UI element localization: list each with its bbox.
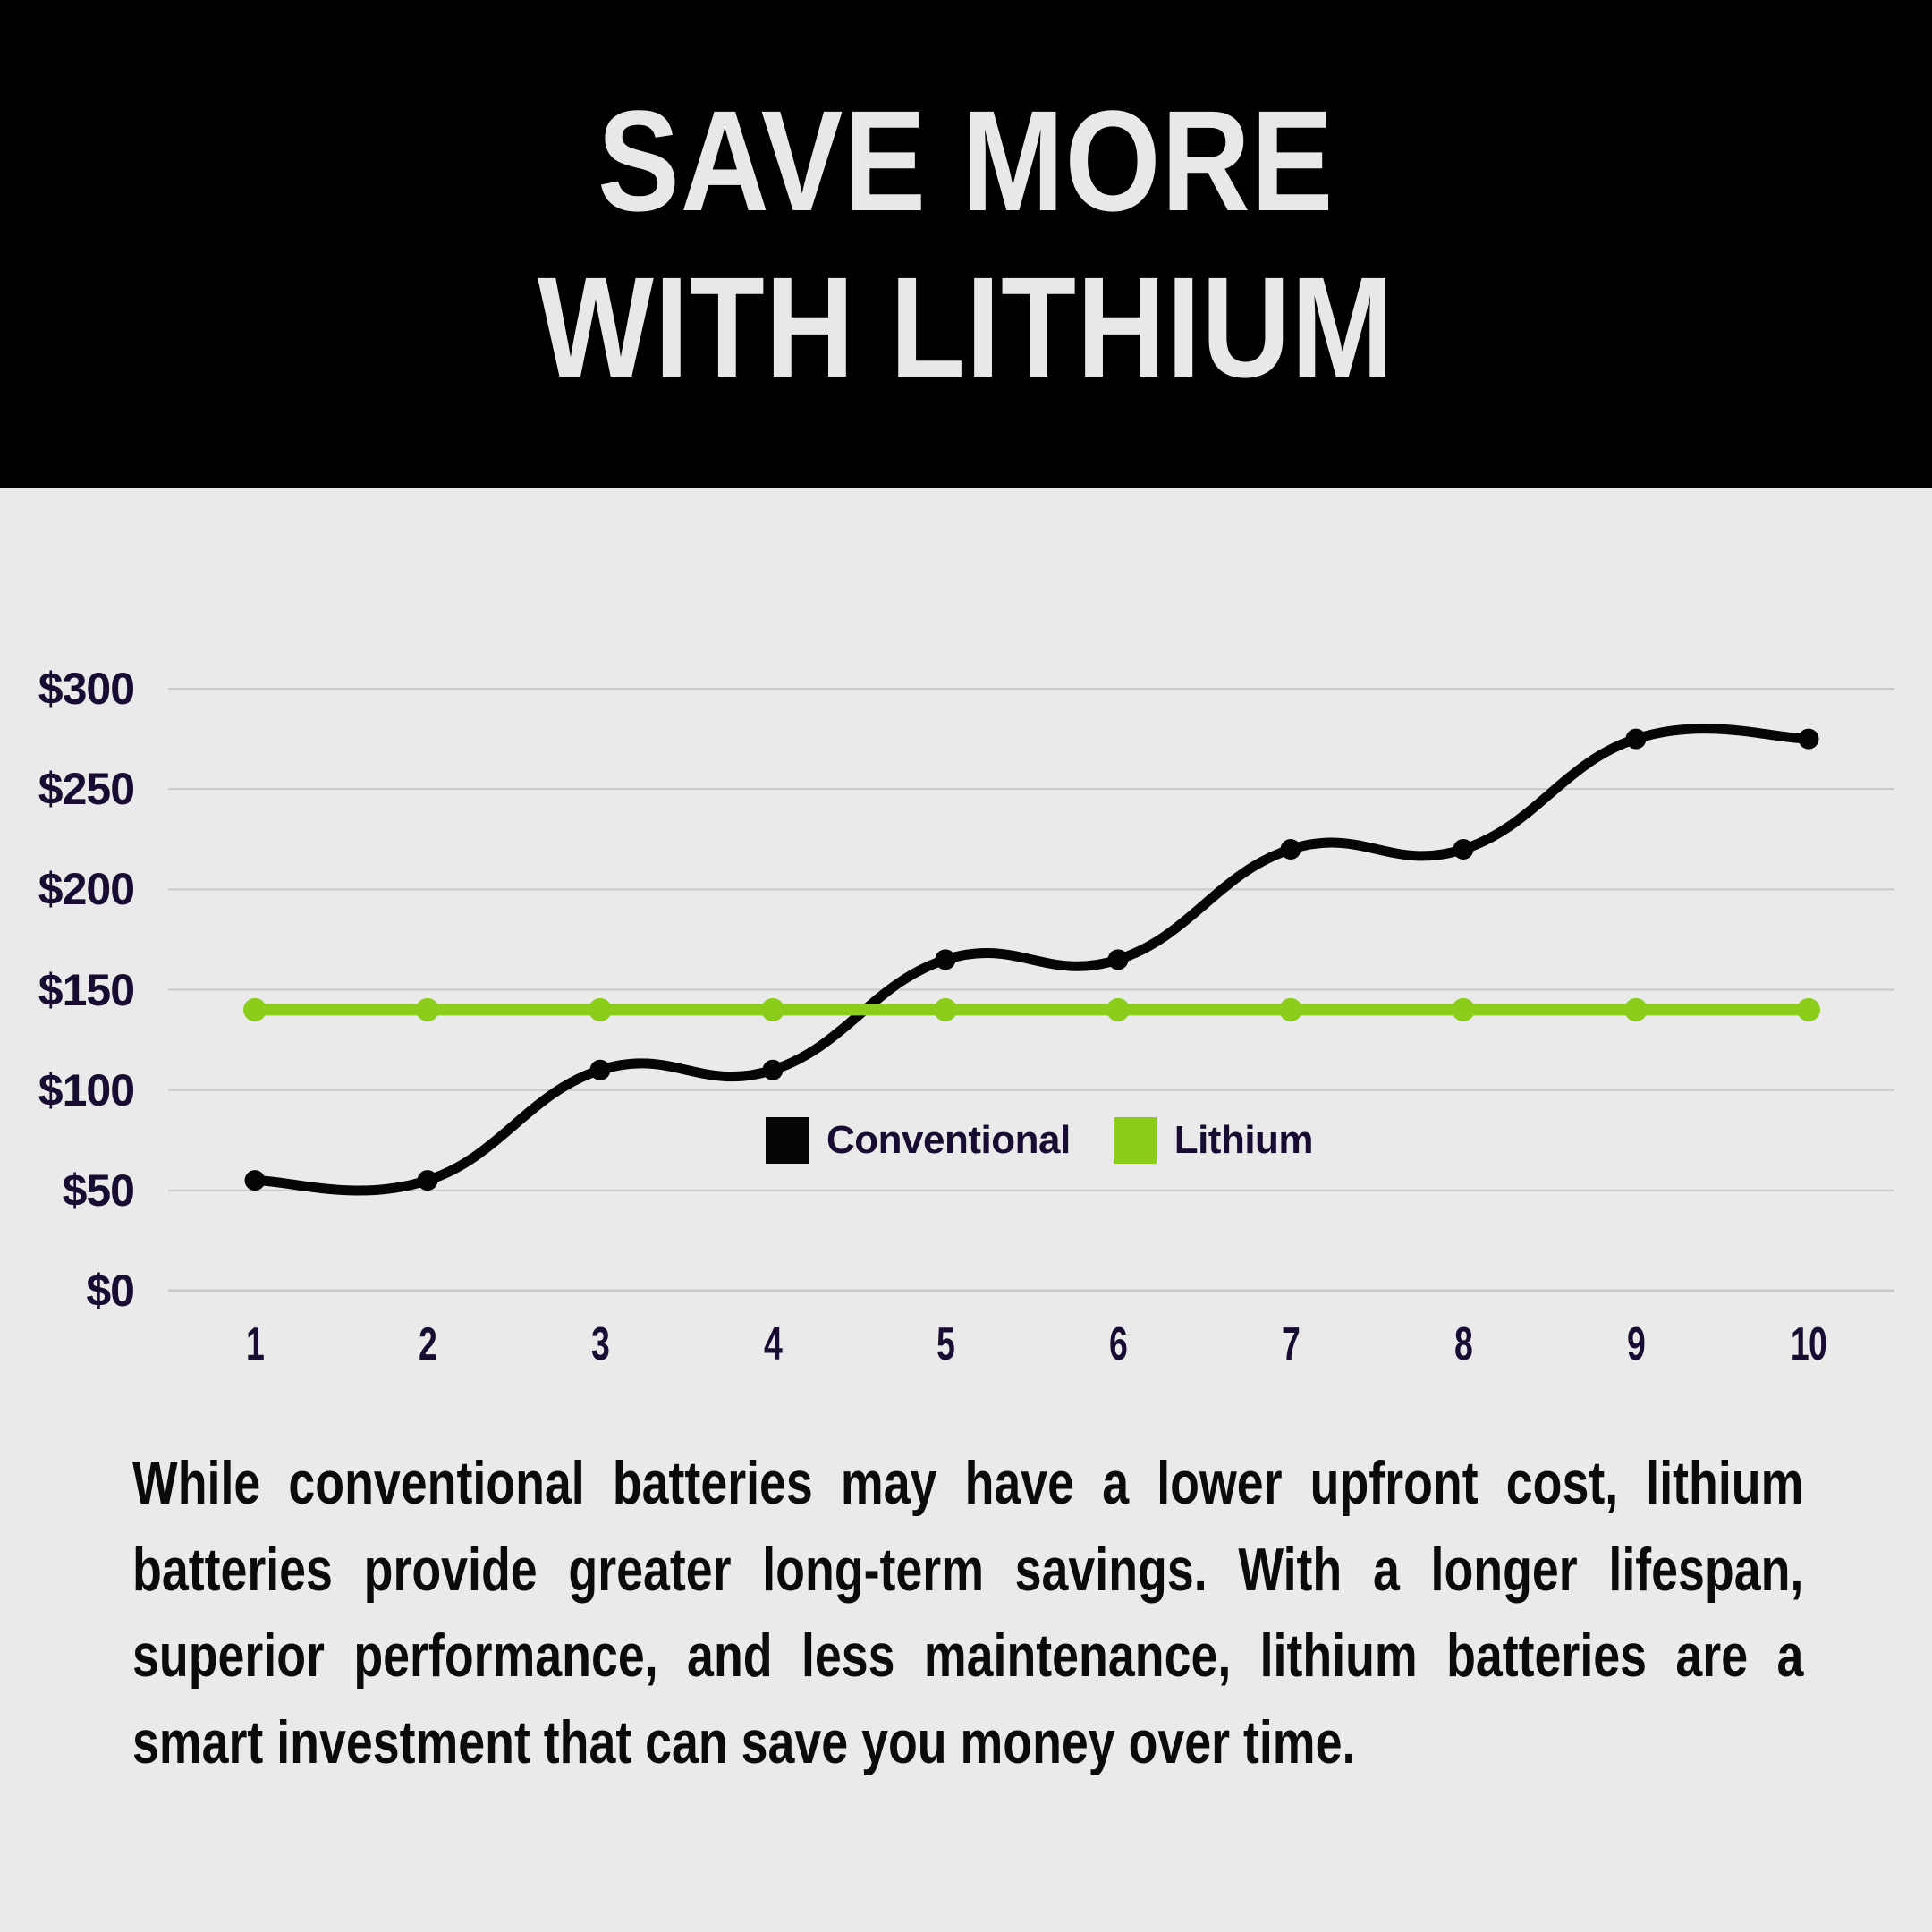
y-axis-tick-label: $0 xyxy=(0,1265,134,1317)
data-point[interactable] xyxy=(243,998,267,1021)
page-title-line-2: WITH LITHIUM xyxy=(538,256,1394,399)
data-point[interactable] xyxy=(245,1170,266,1191)
y-axis-tick-label: $200 xyxy=(0,863,134,915)
data-point[interactable] xyxy=(1626,729,1647,750)
x-axis-tick-label: 10 xyxy=(1770,1318,1847,1371)
data-point[interactable] xyxy=(1452,998,1475,1021)
data-point[interactable] xyxy=(416,998,439,1021)
header-banner: SAVE MORE WITH LITHIUM xyxy=(0,0,1932,488)
chart-series-lines xyxy=(255,729,1809,1191)
x-axis-tick-label: 4 xyxy=(734,1318,811,1371)
data-point[interactable] xyxy=(1797,998,1820,1021)
chart-plot-area: $0$50$100$150$200$250$300 12345678910 xyxy=(0,488,1932,1419)
page-title-line-1: SAVE MORE xyxy=(597,89,1334,233)
x-axis-tick-label: 8 xyxy=(1425,1318,1502,1371)
body-paragraph: While conventional batteries may have a … xyxy=(132,1440,1803,1785)
data-point[interactable] xyxy=(1281,839,1301,860)
x-axis-tick-label: 7 xyxy=(1252,1318,1329,1371)
x-axis-tick-label: 9 xyxy=(1597,1318,1674,1371)
data-point[interactable] xyxy=(1106,998,1130,1021)
y-axis-tick-label: $150 xyxy=(0,964,134,1016)
series-line-conventional xyxy=(255,729,1809,1191)
data-point[interactable] xyxy=(1108,949,1129,970)
x-axis-tick-label: 6 xyxy=(1080,1318,1157,1371)
data-point[interactable] xyxy=(1453,839,1474,860)
data-point[interactable] xyxy=(1799,729,1819,750)
x-axis-tick-label: 5 xyxy=(907,1318,984,1371)
data-point[interactable] xyxy=(763,1060,784,1080)
x-axis-tick-label: 3 xyxy=(562,1318,639,1371)
data-point[interactable] xyxy=(936,949,956,970)
data-point[interactable] xyxy=(934,998,957,1021)
data-point[interactable] xyxy=(418,1170,438,1191)
data-point[interactable] xyxy=(590,1060,611,1080)
chart-canvas xyxy=(0,488,1932,1419)
data-point[interactable] xyxy=(1624,998,1648,1021)
y-axis-tick-label: $300 xyxy=(0,663,134,715)
x-axis-tick-label: 1 xyxy=(216,1318,293,1371)
y-axis-tick-label: $250 xyxy=(0,763,134,815)
y-axis-tick-label: $50 xyxy=(0,1165,134,1216)
data-point[interactable] xyxy=(1279,998,1302,1021)
x-axis-tick-label: 2 xyxy=(389,1318,466,1371)
data-point[interactable] xyxy=(589,998,612,1021)
y-axis-tick-label: $100 xyxy=(0,1064,134,1116)
chart-gridlines xyxy=(168,689,1894,1291)
chart-section: Conventional Lithium $0$50$100$150$200$2… xyxy=(0,488,1932,1419)
data-point[interactable] xyxy=(761,998,784,1021)
